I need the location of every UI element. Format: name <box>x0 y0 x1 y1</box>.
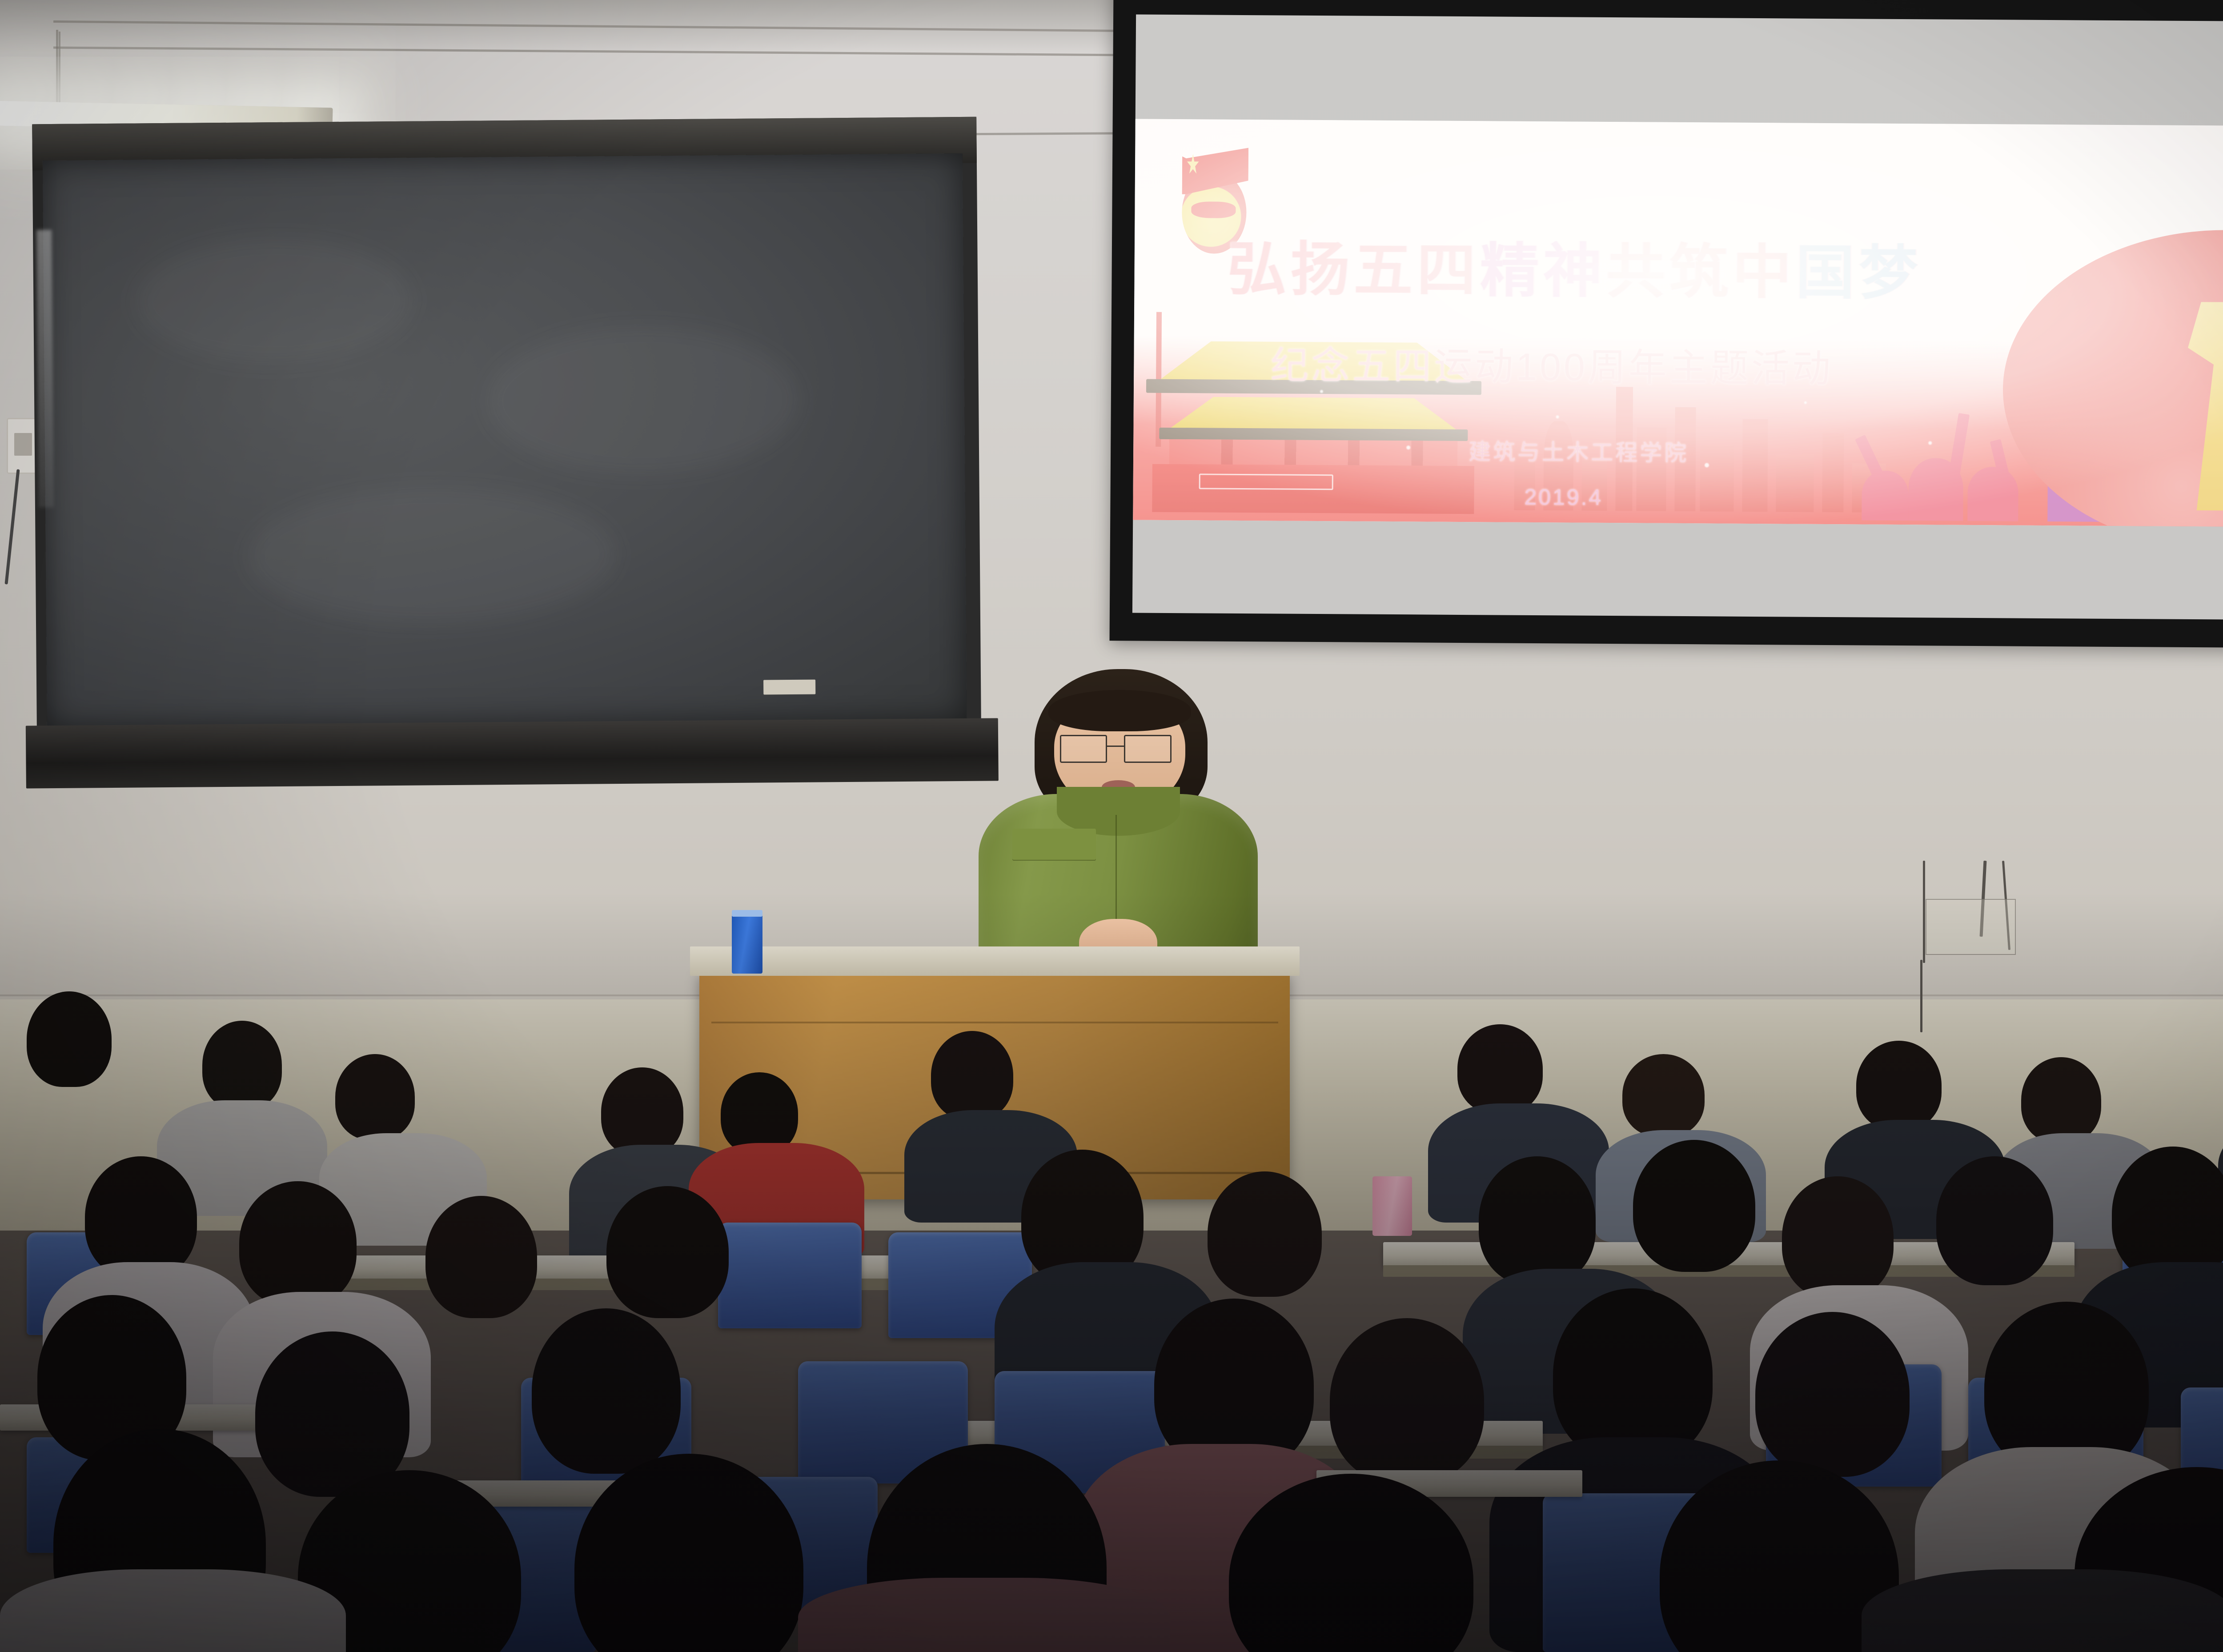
pink-water-bottle[interactable] <box>1372 1176 1412 1236</box>
student-head <box>1856 1041 1941 1130</box>
student-head <box>601 1067 683 1157</box>
lecture-seat[interactable] <box>718 1223 862 1328</box>
student-head <box>1782 1176 1894 1299</box>
student-head <box>1936 1156 2053 1285</box>
student-head <box>1457 1024 1542 1114</box>
student-head <box>721 1072 798 1155</box>
student-head <box>532 1308 681 1474</box>
student-head <box>1622 1054 1705 1137</box>
student-head <box>239 1181 356 1307</box>
student-head <box>1755 1312 1910 1477</box>
student-head <box>85 1156 197 1279</box>
student-head <box>425 1196 537 1318</box>
student-head <box>335 1054 415 1140</box>
student-head <box>1633 1140 1755 1272</box>
student-head <box>606 1186 729 1318</box>
student-head <box>255 1331 409 1497</box>
student-head <box>1553 1288 1713 1462</box>
classroom-photo: 弘扬五四精神共筑中国梦 纪念五四运动100周年主题活动 建筑与土木工程学院 20… <box>0 0 2223 1652</box>
student-head <box>1208 1171 1322 1297</box>
audience-area <box>0 0 2223 1652</box>
student-torso-foreground <box>0 1569 346 1652</box>
student-head <box>931 1031 1013 1120</box>
student-torso-foreground <box>798 1578 1170 1652</box>
student-head <box>27 991 112 1087</box>
student-head <box>1479 1156 1596 1285</box>
student-head <box>2021 1057 2101 1143</box>
student-head <box>202 1021 282 1110</box>
student-torso-foreground <box>1862 1569 2223 1652</box>
student-head <box>1330 1318 1484 1484</box>
